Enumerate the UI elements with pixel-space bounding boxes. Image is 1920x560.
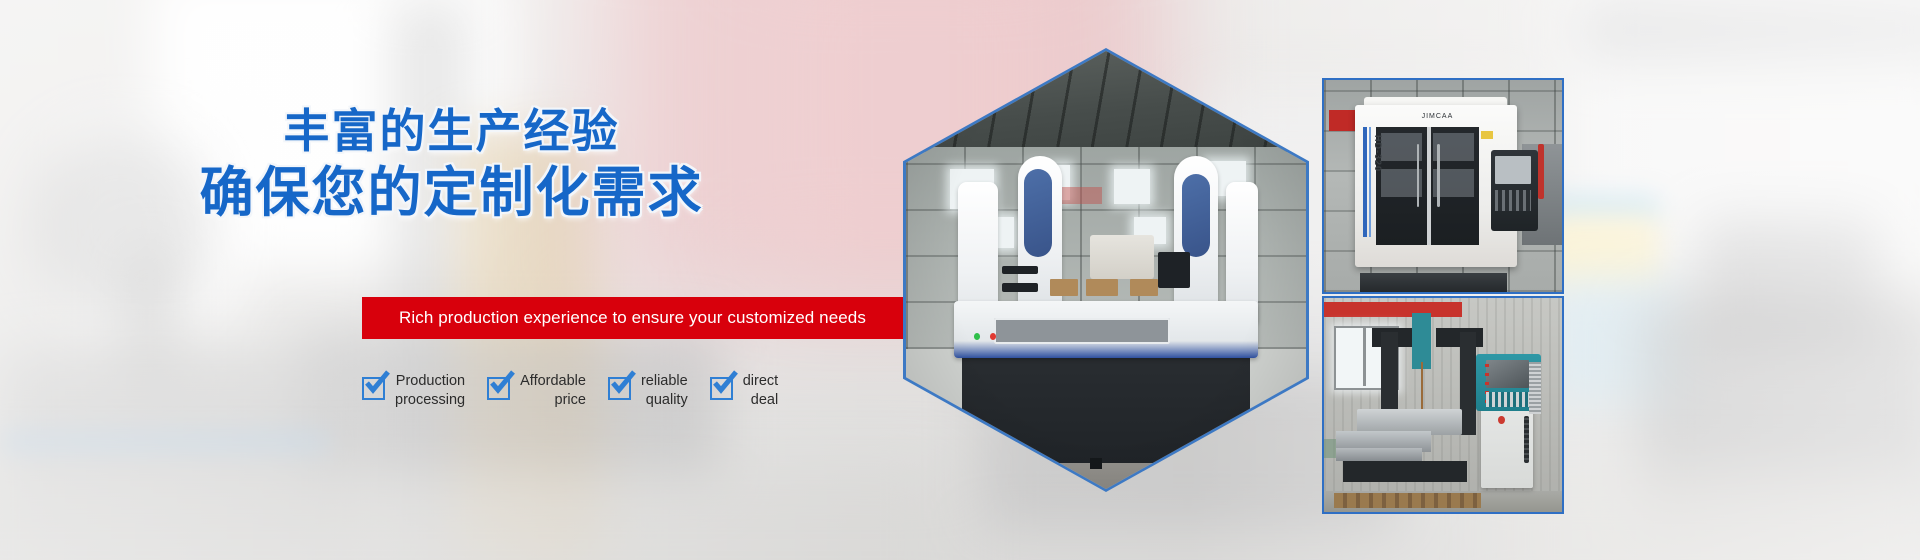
feature-item-direct-deal: directdeal — [710, 369, 778, 409]
thumbnail-machining-centre[interactable]: HD-320 JIMCAA — [1322, 78, 1564, 294]
feature-label-line-2: processing — [395, 392, 465, 408]
subtitle-bar: Rich production experience to ensure you… — [362, 297, 903, 339]
feature-label-line-1: reliable — [641, 373, 688, 389]
headline-line-2: 确保您的定制化需求 — [0, 162, 903, 222]
feature-label: directdeal — [743, 369, 778, 409]
checkbox-checked-icon — [362, 377, 385, 400]
feature-label-line-2: deal — [751, 392, 778, 408]
banner-headline: 丰富的生产经验 确保您的定制化需求 — [0, 106, 903, 222]
feature-list: Productionprocessing Affordableprice rel… — [362, 369, 907, 417]
checkbox-checked-icon — [710, 377, 733, 400]
feature-item-affordable-price: Affordableprice — [487, 369, 586, 409]
checkbox-checked-icon — [487, 377, 510, 400]
feature-label: Productionprocessing — [395, 369, 465, 409]
feature-item-production-processing: Productionprocessing — [362, 369, 465, 409]
thumbnail-brand-label: JIMCAA — [1422, 113, 1454, 120]
feature-label-line-1: direct — [743, 373, 778, 389]
feature-label: reliablequality — [641, 369, 688, 409]
headline-line-1: 丰富的生产经验 — [0, 106, 903, 158]
promo-banner: 丰富的生产经验 确保您的定制化需求 Rich production experi… — [0, 0, 1920, 560]
feature-label-line-2: quality — [646, 392, 688, 408]
thumbnail-edm-machine[interactable] — [1322, 296, 1564, 514]
checkbox-checked-icon — [608, 377, 631, 400]
feature-label: Affordableprice — [520, 369, 586, 409]
feature-label-line-1: Production — [396, 373, 465, 389]
thumbnail-machine-model-label: HD-320 — [1373, 135, 1383, 172]
feature-item-reliable-quality: reliablequality — [608, 369, 688, 409]
feature-label-line-2: price — [555, 392, 586, 408]
subtitle-text: Rich production experience to ensure you… — [399, 308, 866, 328]
feature-label-line-1: Affordable — [520, 373, 586, 389]
